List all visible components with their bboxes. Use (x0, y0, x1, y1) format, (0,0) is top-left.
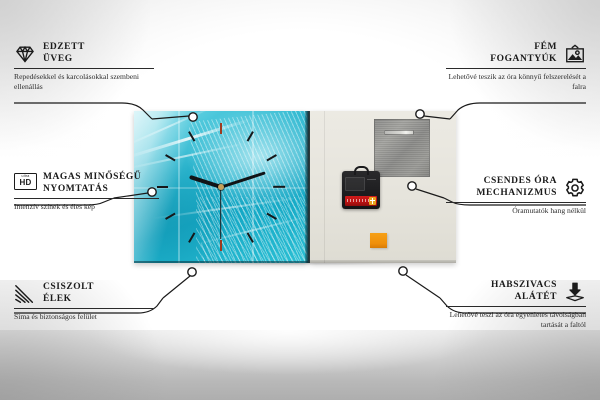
clock-minute-hand (221, 171, 266, 188)
callout-title-high-quality-print: MAGAS MINŐSÉGŰNYOMTATÁS (43, 172, 141, 195)
battery-label-stripe (347, 199, 370, 202)
callout-rule (446, 202, 586, 203)
hour-marker-7 (188, 232, 195, 243)
diamond-icon (14, 43, 36, 65)
callout-silent-mechanism[interactable]: CSENDES ÓRAMECHANIZMUS Óramutatók hang n… (446, 176, 586, 216)
metal-grain (375, 120, 429, 176)
callout-title-metal-handles: FÉMFOGANTYÚK (490, 42, 557, 65)
product-image (134, 111, 456, 263)
back-panel-bottom-edge (310, 260, 456, 263)
hour-marker-12 (220, 123, 222, 134)
callout-rule (14, 198, 159, 199)
clock-second-hand (220, 187, 221, 239)
hour-marker-3 (273, 186, 285, 188)
hour-marker-1 (246, 131, 253, 142)
battery (345, 196, 377, 206)
hour-marker-8 (165, 213, 176, 220)
ultra-hd-icon-label: HD (20, 179, 32, 187)
foam-pad (370, 233, 387, 248)
battery-positive-terminal (369, 197, 376, 205)
callout-description-silent-mechanism: Óramutatók hang nélkül (446, 206, 586, 216)
product-drop-shadow (140, 262, 452, 271)
callout-description-metal-handles: Lehetővé teszik az óra könnyű felszerelé… (446, 72, 586, 91)
clock-dial (134, 111, 308, 263)
hour-marker-11 (188, 131, 195, 142)
hour-marker-10 (165, 154, 176, 161)
ultra-hd-icon: ultra HD (14, 173, 36, 195)
callout-foam-pad[interactable]: HABSZIVACSALÁTÉT Lehetővé teszi az óra e… (446, 280, 586, 329)
hour-marker-4 (266, 213, 277, 220)
clock-hour-hand (189, 175, 222, 189)
mechanism-panel (345, 177, 365, 191)
clock-center-cap (218, 184, 224, 190)
callout-rule (14, 68, 154, 69)
metal-hanger-plate (374, 119, 430, 177)
callout-rule (446, 306, 586, 307)
clock-back-panel (310, 111, 456, 263)
callout-tempered-glass[interactable]: EDZETTÜVEG Repedésekkel és karcolásokkal… (14, 42, 154, 91)
mechanism-detail-line (367, 179, 376, 180)
callout-high-quality-print[interactable]: ultra HD MAGAS MINŐSÉGŰNYOMTATÁS Intenzí… (14, 172, 159, 212)
glass-edge-bottom (134, 261, 308, 263)
callout-title-polished-edges: CSISZOLTÉLEK (43, 282, 94, 305)
callout-metal-handles[interactable]: FÉMFOGANTYÚK Lehetővé teszik az óra könn… (446, 42, 586, 91)
diagonal-lines-icon (14, 283, 36, 305)
down-arrow-pad-icon (564, 281, 586, 303)
hour-marker-6 (220, 240, 222, 251)
callout-rule (446, 68, 586, 69)
callout-title-tempered-glass: EDZETTÜVEG (43, 42, 85, 65)
clock-mechanism (342, 171, 380, 209)
back-panel-seam (324, 111, 325, 263)
gear-icon (564, 177, 586, 199)
callout-description-tempered-glass: Repedésekkel és karcolásokkal szembeni e… (14, 72, 154, 91)
callout-description-high-quality-print: Intenzív színek és éles kép (14, 202, 159, 212)
callout-description-foam-pad: Lehetővé teszi az óra egyenletes távolsá… (446, 310, 586, 329)
infographic-stage: EDZETTÜVEG Repedésekkel és karcolásokkal… (0, 0, 600, 400)
callout-rule (14, 308, 154, 309)
glass-clock-face (134, 111, 308, 263)
hanger-slot (384, 130, 414, 135)
callout-polished-edges[interactable]: CSISZOLTÉLEK Sima és biztonságos felület (14, 282, 154, 322)
mechanism-hanger-loop (354, 166, 369, 175)
picture-frame-hook-icon (564, 43, 586, 65)
callout-title-silent-mechanism: CSENDES ÓRAMECHANIZMUS (477, 176, 557, 199)
hour-marker-5 (246, 232, 253, 243)
callout-description-polished-edges: Sima és biztonságos felület (14, 312, 154, 322)
callout-title-foam-pad: HABSZIVACSALÁTÉT (491, 280, 557, 303)
hour-marker-2 (266, 154, 277, 161)
